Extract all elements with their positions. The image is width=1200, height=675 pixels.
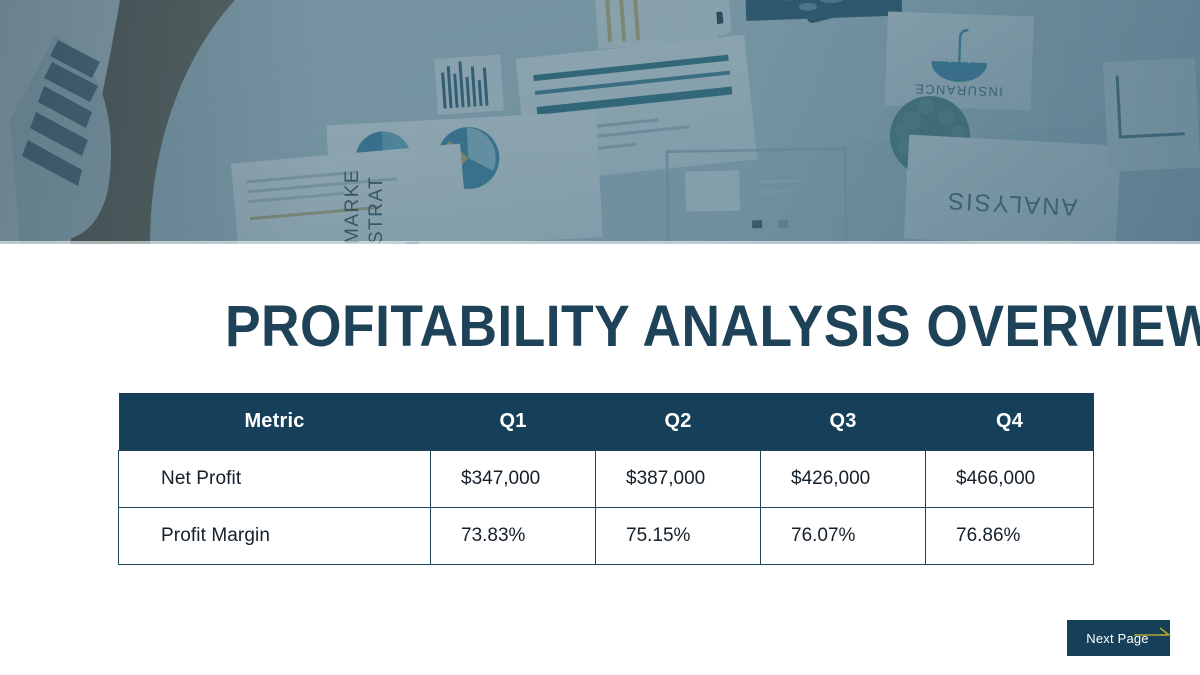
hero-bottom-edge: [0, 241, 1200, 244]
next-page-label: Next Page: [1086, 632, 1151, 645]
table-header: Metric Q1 Q2 Q3 Q4: [119, 393, 1094, 451]
table-header-row: Metric Q1 Q2 Q3 Q4: [119, 393, 1094, 451]
cell-net-profit-q3: $426,000: [761, 451, 926, 508]
hero-banner: TRENDS: [0, 0, 1200, 244]
cell-net-profit-q2: $387,000: [596, 451, 761, 508]
cell-profit-margin-q4: 76.86%: [926, 508, 1094, 565]
cell-profit-margin-q2: 75.15%: [596, 508, 761, 565]
profitability-table: Metric Q1 Q2 Q3 Q4 Net Profit $347,000 $…: [118, 393, 1094, 565]
page-title: Profitability Analysis Overview: [225, 297, 1200, 357]
column-header-q2: Q2: [596, 393, 761, 451]
svg-text:MARKE: MARKE: [342, 169, 363, 244]
office-desk-illustration: TRENDS: [0, 0, 1200, 244]
cell-metric-profit-margin: Profit Margin: [119, 508, 431, 565]
cell-net-profit-q4: $466,000: [926, 451, 1094, 508]
table-row: Net Profit $347,000 $387,000 $426,000 $4…: [119, 451, 1094, 508]
column-header-q3: Q3: [761, 393, 926, 451]
hero-photo: TRENDS: [0, 0, 1200, 244]
column-header-q4: Q4: [926, 393, 1094, 451]
profitability-table-container: Metric Q1 Q2 Q3 Q4 Net Profit $347,000 $…: [118, 393, 1093, 565]
column-header-q1: Q1: [431, 393, 596, 451]
table-row: Profit Margin 73.83% 75.15% 76.07% 76.86…: [119, 508, 1094, 565]
cell-profit-margin-q3: 76.07%: [761, 508, 926, 565]
cell-metric-net-profit: Net Profit: [119, 451, 431, 508]
slide-profitability-analysis: TRENDS: [0, 0, 1200, 675]
cell-profit-margin-q1: 73.83%: [431, 508, 596, 565]
column-header-metric: Metric: [119, 393, 431, 451]
table-body: Net Profit $347,000 $387,000 $426,000 $4…: [119, 451, 1094, 565]
cell-net-profit-q1: $347,000: [431, 451, 596, 508]
svg-text:STRAT: STRAT: [366, 176, 387, 244]
next-page-button[interactable]: Next Page: [1067, 620, 1170, 656]
